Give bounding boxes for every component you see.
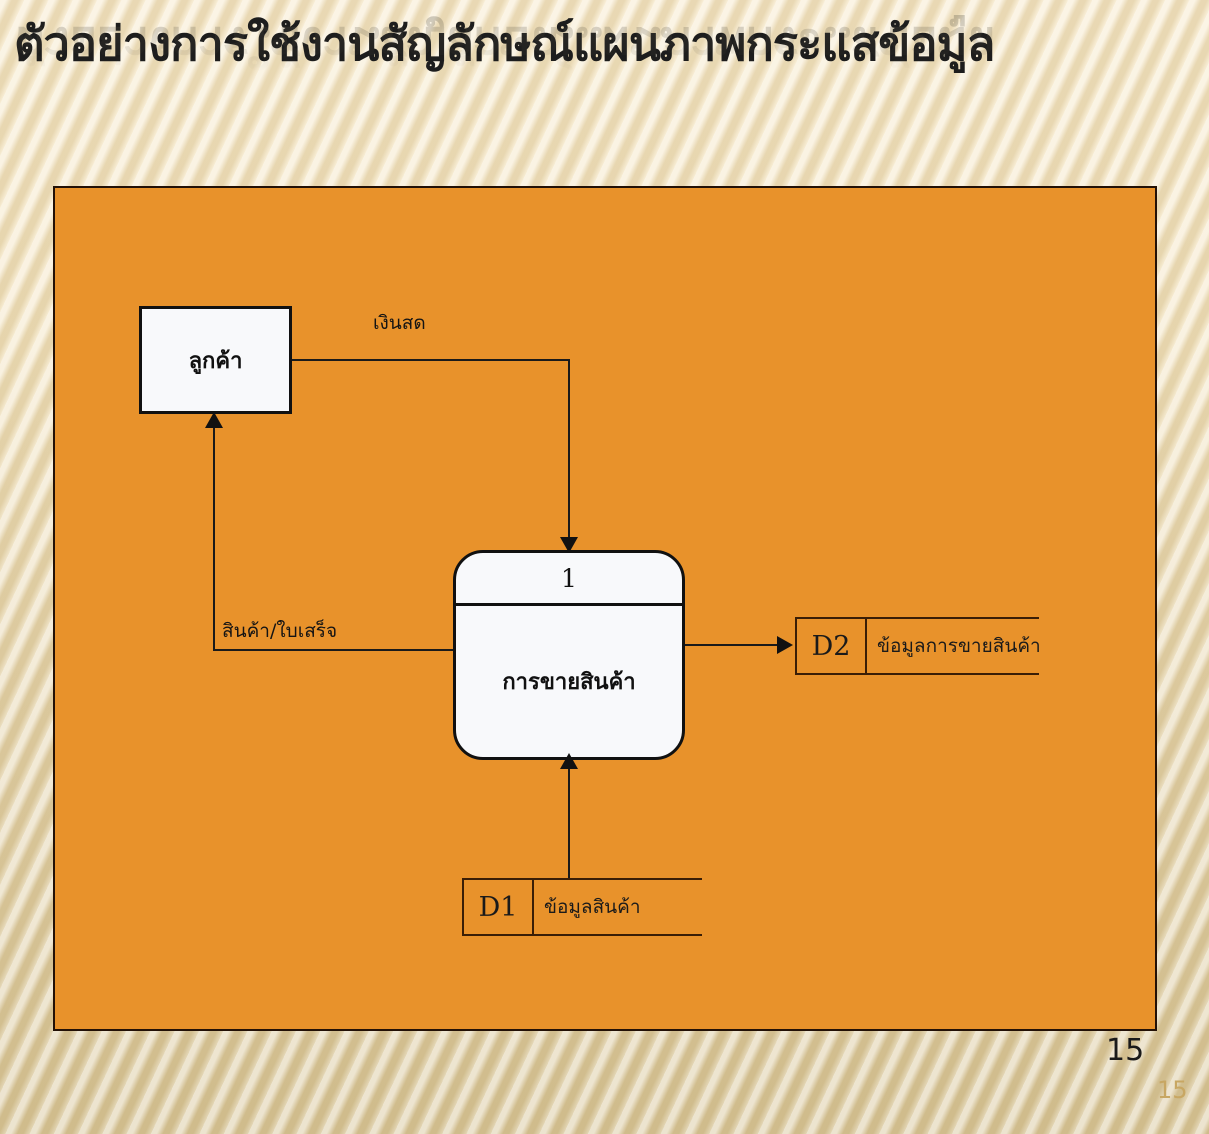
data-store-d1-name: ข้อมูลสินค้า: [534, 880, 702, 934]
footer-page-number: 15: [1157, 1076, 1188, 1104]
process-sales-name: การขายสินค้า: [456, 606, 682, 757]
data-store-d2[interactable]: D2 ข้อมูลการขายสินค้า: [795, 617, 1039, 675]
page-number: 15: [1106, 1033, 1144, 1068]
slide-canvas: ตัวอย่างการใช้งานสัญลักษณ์แผนภาพกระแสข้อ…: [0, 0, 1209, 1134]
dfd-panel: ลูกค้า เงินสด สินค้า/ใบเสร็จ 1 การขายสิน…: [53, 186, 1157, 1031]
external-entity-customer-label: ลูกค้า: [189, 343, 243, 378]
data-store-d2-code: D2: [797, 619, 867, 673]
page-title: ตัวอย่างการใช้งานสัญลักษณ์แผนภาพกระแสข้อ…: [14, 16, 994, 74]
data-store-d1-code: D1: [464, 880, 534, 934]
flow-product-lookup-arrowhead-icon: [560, 753, 578, 769]
data-store-d2-name: ข้อมูลการขายสินค้า: [867, 619, 1041, 673]
flow-cash-horizontal-segment: [292, 359, 570, 361]
process-sales[interactable]: 1 การขายสินค้า: [453, 550, 685, 760]
external-entity-customer[interactable]: ลูกค้า: [139, 306, 292, 414]
flow-sales-record-arrowhead-icon: [777, 636, 793, 654]
slide-title-block: ตัวอย่างการใช้งานสัญลักษณ์แผนภาพกระแสข้อ…: [14, 16, 1014, 116]
flow-goods-receipt-vertical-segment: [213, 427, 215, 651]
flow-product-lookup-segment: [568, 766, 570, 880]
flow-sales-record-segment: [685, 644, 779, 646]
flow-goods-receipt-horizontal-segment: [213, 649, 455, 651]
flow-goods-receipt-arrowhead-icon: [205, 412, 223, 428]
flow-cash-vertical-segment: [568, 359, 570, 549]
process-sales-number: 1: [456, 553, 682, 603]
flow-goods-receipt-label: สินค้า/ใบเสร็จ: [222, 616, 337, 646]
data-store-d1[interactable]: D1 ข้อมูลสินค้า: [462, 878, 702, 936]
flow-cash-label: เงินสด: [373, 308, 426, 338]
